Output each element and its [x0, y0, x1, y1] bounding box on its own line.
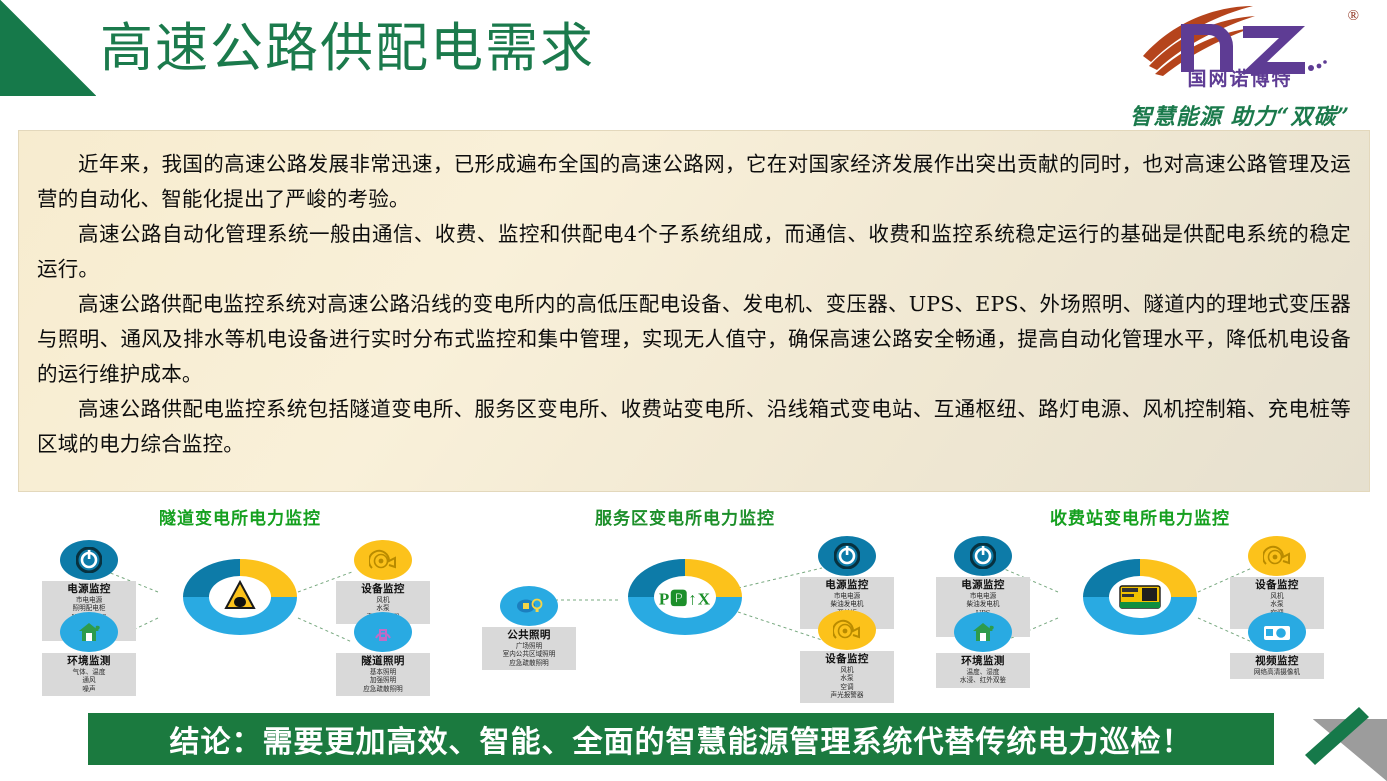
node-title: 电源监控 [939, 579, 1027, 592]
corner-decoration-bottom-right-stripe [1297, 705, 1371, 767]
diagram-title: 服务区变电所电力监控 [470, 504, 900, 529]
fan-icon [1248, 536, 1306, 576]
node-sub-0: 网络高清摄像机 [1233, 668, 1321, 676]
body-text-panel: 近年来，我国的高速公路发展非常迅速，已形成遍布全国的高速公路网，它在对国家经济发… [18, 130, 1370, 492]
conclusion-text: 结论：需要更加高效、智能、全面的智慧能源管理系统代替传统电力巡检！ [170, 717, 1193, 761]
node-sub-1: 柴油发电机 [803, 600, 891, 608]
power-button-icon [60, 540, 118, 580]
node-title: 设备监控 [803, 653, 891, 666]
node-sub-1: 通风 [45, 676, 133, 684]
node-environment-monitoring[interactable]: 环境监测 温度、湿度 水浸、红外双鉴 [936, 612, 1030, 688]
node-title: 视频监控 [1233, 655, 1321, 668]
node-sub-2: 空调 [803, 683, 891, 691]
node-title: 电源监控 [45, 583, 133, 596]
node-equipment-monitoring[interactable]: 设备监控 风机 水泵 空调 声光报警器 [800, 610, 894, 703]
diagram-hub [1080, 556, 1200, 638]
registered-trademark-icon: ® [1348, 8, 1359, 25]
fan-icon [818, 610, 876, 650]
diagram-title: 隧道变电所电力监控 [40, 504, 440, 529]
node-tunnel-lighting[interactable]: 隧道照明 基本照明 加强照明 应急疏散照明 [336, 612, 430, 696]
slide-root: 高速公路供配电需求 ® 国网诺博特 智慧能源 助力“双碳” [0, 0, 1387, 781]
node-sub-2: 应急疏散照明 [339, 685, 427, 693]
logo-tagline: 智慧能源 助力“双碳” [1115, 99, 1365, 131]
paragraph-4: 高速公路供配电监控系统包括隧道变电所、服务区变电所、收费站变电所、沿线箱式变电站… [37, 392, 1351, 462]
node-sub-1: 加强照明 [339, 676, 427, 684]
environment-house-icon [60, 612, 118, 652]
paragraph-3: 高速公路供配电监控系统对高速公路沿线的变电所内的高低压配电设备、发电机、变压器、… [37, 287, 1351, 392]
fan-icon [354, 540, 412, 580]
node-sub-1: 水泵 [1233, 600, 1321, 608]
lamp-icon [354, 612, 412, 652]
node-title: 环境监测 [45, 655, 133, 668]
page-title: 高速公路供配电需求 [100, 16, 595, 82]
conclusion-banner: 结论：需要更加高效、智能、全面的智慧能源管理系统代替传统电力巡检！ [88, 713, 1274, 765]
node-sub-1: 室内公共区域照明 [485, 650, 573, 658]
logo-company-name: 国网诺博特 [1115, 64, 1365, 91]
node-sub-1: 柴油发电机 [939, 600, 1027, 608]
node-caption: 隧道照明 基本照明 加强照明 应急疏散照明 [336, 653, 430, 696]
diagram-title: 收费站变电所电力监控 [930, 504, 1350, 529]
node-title: 环境监测 [939, 655, 1027, 668]
node-sub-2: 应急疏散照明 [485, 659, 573, 667]
slide-header: 高速公路供配电需求 ® 国网诺博特 智慧能源 助力“双碳” [0, 0, 1387, 126]
company-logo: ® 国网诺博特 智慧能源 助力“双碳” [1115, 4, 1365, 126]
diagram-hub [180, 556, 300, 638]
node-sub-3: 声光报警器 [803, 691, 891, 699]
node-caption: 公共照明 广场照明 室内公共区域照明 应急疏散照明 [482, 627, 576, 670]
node-sub-1: 水泵 [803, 674, 891, 682]
diagram-hub: P🅿↑X [625, 556, 745, 638]
node-title: 电源监控 [803, 579, 891, 592]
node-caption: 环境监测 温度、湿度 水浸、红外双鉴 [936, 653, 1030, 688]
node-environment-monitoring[interactable]: 环境监测 气体、温度 通风 噪声 [42, 612, 136, 696]
paragraph-2: 高速公路自动化管理系统一般由通信、收费、监控和供配电4个子系统组成，而通信、收费… [37, 217, 1351, 287]
diagram-tunnel-substation: 隧道变电所电力监控 [40, 500, 440, 700]
public-lighting-icon [500, 586, 558, 626]
node-title: 设备监控 [1233, 579, 1321, 592]
video-camera-icon [1248, 612, 1306, 652]
diagram-row: 隧道变电所电力监控 [18, 500, 1370, 700]
environment-house-icon [954, 612, 1012, 652]
diagram-service-area-substation: 服务区变电所电力监控 P🅿↑X [470, 500, 900, 700]
power-button-icon [818, 536, 876, 576]
diagram-toll-station-substation: 收费站变电所电力监控 [930, 500, 1350, 700]
node-sub-1: 水浸、红外双鉴 [939, 676, 1027, 684]
node-title: 设备监控 [339, 583, 427, 596]
node-sub-2: 噪声 [45, 685, 133, 693]
node-caption: 视频监控 网络高清摄像机 [1230, 653, 1324, 679]
node-caption: 设备监控 风机 水泵 空调 声光报警器 [800, 651, 894, 703]
node-public-lighting[interactable]: 公共照明 广场照明 室内公共区域照明 应急疏散照明 [482, 586, 576, 670]
node-title: 公共照明 [485, 629, 573, 642]
power-button-icon [954, 536, 1012, 576]
node-caption: 环境监测 气体、温度 通风 噪声 [42, 653, 136, 696]
paragraph-1: 近年来，我国的高速公路发展非常迅速，已形成遍布全国的高速公路网，它在对国家经济发… [37, 147, 1351, 217]
node-title: 隧道照明 [339, 655, 427, 668]
node-video-monitoring[interactable]: 视频监控 网络高清摄像机 [1230, 612, 1324, 679]
